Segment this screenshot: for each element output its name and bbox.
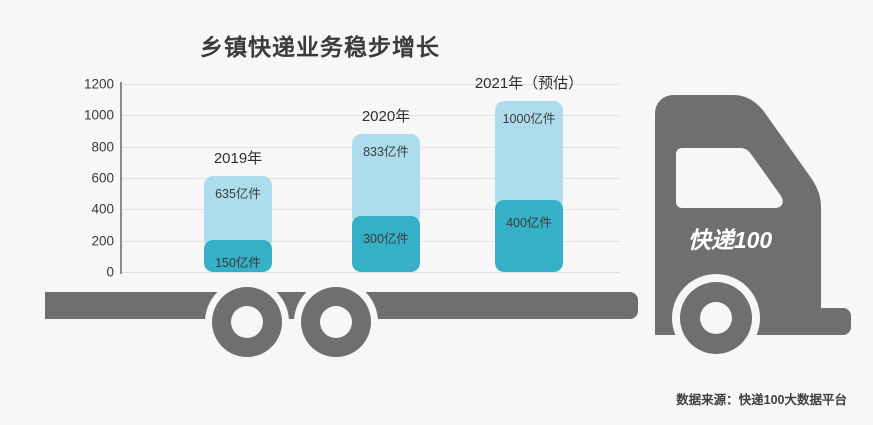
truck-window-icon xyxy=(676,148,783,208)
bar-segment-upper[interactable]: 1000亿件 xyxy=(495,101,563,209)
truck-body-icon xyxy=(655,95,851,335)
bar-segment-lower[interactable]: 150亿件 xyxy=(204,240,272,273)
rear-wheel-2-tire-icon xyxy=(301,287,371,357)
source-note: 数据来源：快递100大数据平台 xyxy=(676,389,847,408)
y-tick-label: 800 xyxy=(60,139,114,154)
bar-stack[interactable]: 1000亿件400亿件 xyxy=(495,101,563,272)
truck-logo-text: 快递100 xyxy=(688,227,773,253)
rear-wheel-1-outer-icon xyxy=(205,280,289,364)
front-wheel-outer-icon xyxy=(672,274,760,362)
bar-segment-upper[interactable]: 635亿件 xyxy=(204,176,272,248)
bar-segment-lower[interactable]: 300亿件 xyxy=(352,216,420,272)
bar-segment-lower[interactable]: 400亿件 xyxy=(495,200,563,272)
bar-category-label: 2019年 xyxy=(214,147,262,168)
rear-wheel-2-outer-icon xyxy=(294,280,378,364)
bar-value-label-lower: 150亿件 xyxy=(204,252,272,271)
rear-wheel-1-tire-icon xyxy=(212,287,282,357)
plot-area: 635亿件150亿件2019年833亿件300亿件2020年1000亿件400亿… xyxy=(122,84,620,272)
y-tick-label: 400 xyxy=(60,202,114,217)
bar-group[interactable]: 635亿件150亿件2019年 xyxy=(204,84,272,272)
page-title: 乡镇快递业务稳步增长 xyxy=(0,28,640,62)
gridline-0 xyxy=(122,272,620,273)
y-axis-ticks: 120010008006004002000 xyxy=(58,84,114,272)
front-wheel-tire-icon xyxy=(680,282,752,354)
y-tick-label: 600 xyxy=(60,171,114,186)
front-wheel-hub-icon xyxy=(700,302,732,334)
y-tick-label: 0 xyxy=(60,265,114,280)
bar-category-label: 2021年（预估） xyxy=(475,72,583,93)
bar-stack[interactable]: 635亿件150亿件 xyxy=(204,176,272,272)
y-tick-label: 200 xyxy=(60,233,114,248)
y-tick-label: 1200 xyxy=(60,77,114,92)
bar-value-label-lower: 300亿件 xyxy=(352,228,420,247)
bar-value-label-upper: 833亿件 xyxy=(352,141,420,160)
y-tick-label: 1000 xyxy=(60,108,114,123)
bar-value-label-upper: 1000亿件 xyxy=(495,108,563,127)
bar-group[interactable]: 1000亿件400亿件2021年（预估） xyxy=(495,84,563,272)
chart-page: 快递100 乡镇快递业务稳步增长 120010008006004002000 6… xyxy=(0,0,873,420)
bar-stack[interactable]: 833亿件300亿件 xyxy=(352,134,420,272)
bar-value-label-upper: 635亿件 xyxy=(204,183,272,202)
bar-value-label-lower: 400亿件 xyxy=(495,212,563,231)
rear-wheel-2-hub-icon xyxy=(320,306,352,338)
rear-wheel-1-hub-icon xyxy=(231,306,263,338)
truck-bed-icon xyxy=(45,292,638,319)
bar-segment-upper[interactable]: 833亿件 xyxy=(352,134,420,225)
bar-category-label: 2020年 xyxy=(362,105,410,126)
bar-group[interactable]: 833亿件300亿件2020年 xyxy=(352,84,420,272)
